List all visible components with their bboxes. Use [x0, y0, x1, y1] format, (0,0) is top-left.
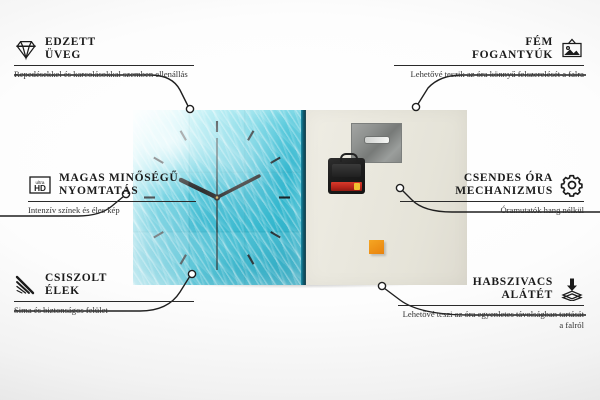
callout-subtitle: Lehetővé teszik az óra könnyű felszerelé… — [394, 69, 584, 80]
callout-metal-handles: FÉM FOGANTYÚK Lehetővé teszik az óra kön… — [394, 36, 584, 80]
callout-title-2: MECHANIZMUS — [455, 185, 553, 198]
callout-polished-edges: CSISZOLT ÉLEK Sima és biztonságos felüle… — [14, 272, 194, 316]
mechanism-detail — [332, 164, 361, 177]
gear-icon — [560, 173, 584, 197]
callout-subtitle: Intenzív színek és éles kép — [28, 205, 196, 216]
callout-foam-pad: HABSZIVACS ALÁTÉT Lehetővé teszi az óra … — [398, 276, 584, 331]
polished-edge-lines-icon — [14, 273, 38, 297]
callout-title-2: ALÁTÉT — [473, 289, 553, 302]
divider — [14, 65, 194, 66]
foam-pad — [369, 240, 384, 254]
clock-mechanism-box — [328, 158, 365, 194]
callout-title: HABSZIVACS — [473, 276, 553, 289]
callout-title: CSENDES ÓRA — [455, 172, 553, 185]
battery — [331, 182, 362, 191]
callout-title: CSISZOLT — [45, 272, 107, 285]
svg-text:HD: HD — [34, 184, 46, 193]
callout-title-2: ÜVEG — [45, 49, 96, 62]
infographic-canvas: EDZETT ÜVEG Repedésekkel és karcolásokka… — [0, 0, 600, 400]
press-layers-icon — [560, 277, 584, 301]
metal-hanger-plate — [351, 123, 402, 163]
divider — [28, 201, 196, 202]
callout-hd-print: ultra HD MAGAS MINŐSÉGŰ NYOMTATÁS Intenz… — [28, 172, 196, 216]
picture-hanger-icon — [560, 37, 584, 61]
diamond-icon — [14, 37, 38, 61]
callout-quiet-mechanism: CSENDES ÓRA MECHANIZMUS Óramutatók hang … — [400, 172, 584, 216]
callout-subtitle: Repedésekkel és karcolásokkal szemben el… — [14, 69, 194, 80]
divider — [398, 305, 584, 306]
divider — [14, 301, 194, 302]
callout-title: MAGAS MINŐSÉGŰ — [59, 172, 178, 185]
hanger-slot — [364, 136, 390, 144]
callout-subtitle: Óramutatók hang nélkül — [400, 205, 584, 216]
callout-title-2: ÉLEK — [45, 285, 107, 298]
callout-subtitle: Sima és biztonságos felület — [14, 305, 194, 316]
callout-title: EDZETT — [45, 36, 96, 49]
divider — [400, 201, 584, 202]
callout-title: FÉM — [472, 36, 553, 49]
callout-title-2: NYOMTATÁS — [59, 185, 178, 198]
callout-tempered-glass: EDZETT ÜVEG Repedésekkel és karcolásokka… — [14, 36, 194, 80]
divider — [394, 65, 584, 66]
battery-terminal — [354, 183, 360, 190]
mechanism-handle — [340, 153, 358, 162]
callout-title-2: FOGANTYÚK — [472, 49, 553, 62]
callout-subtitle: Lehetővé teszi az óra egyenletes távolsá… — [398, 309, 584, 331]
ultra-hd-icon: ultra HD — [28, 173, 52, 197]
